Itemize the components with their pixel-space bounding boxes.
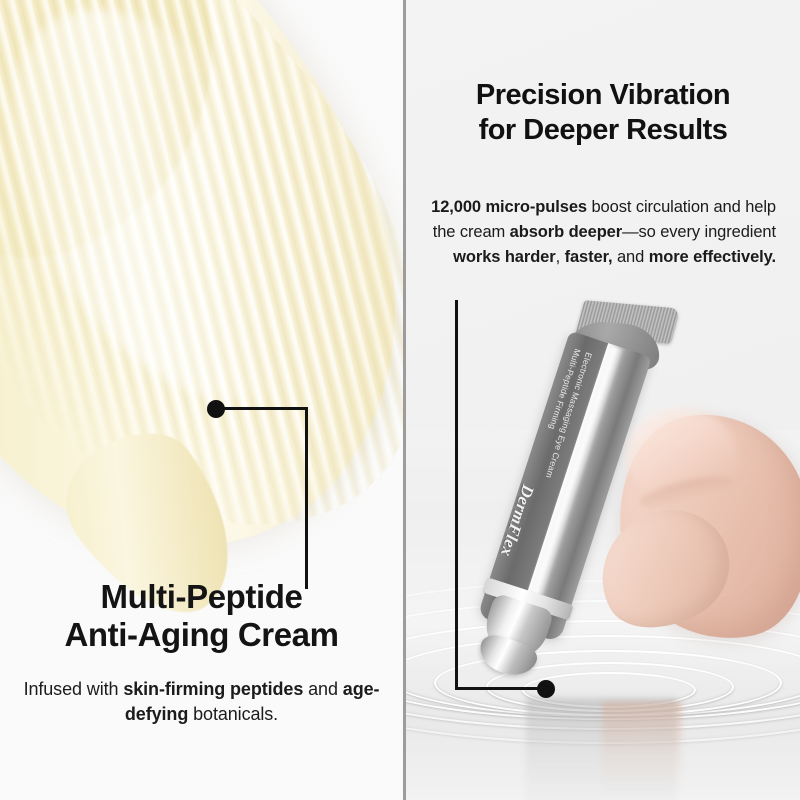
left-panel: Multi-Peptide Anti-Aging Cream Infused w…	[0, 0, 403, 800]
product-tube: Multi-Peptide Firming Electronic Massagi…	[506, 0, 800, 351]
left-subtitle: Infused with skin-firming peptides and a…	[18, 677, 385, 728]
hand-holding-product	[604, 395, 800, 685]
right-para-bold-4: faster,	[565, 248, 613, 266]
right-callout-dot	[537, 680, 555, 698]
hand-reflection	[602, 702, 682, 792]
left-sub-part-2: and	[303, 679, 343, 699]
right-para-bold-1: 12,000 micro-pulses	[431, 198, 587, 216]
right-title-line-1: Precision Vibration	[476, 79, 730, 111]
cream-swatch-image	[0, 0, 403, 630]
left-title-line-2: Anti-Aging Cream	[64, 616, 338, 653]
right-para-part-3: ,	[556, 248, 565, 266]
right-para-bold-2: absorb deeper	[510, 223, 622, 241]
right-para-bold-3: works harder	[453, 248, 555, 266]
right-callout-horizontal-line	[455, 687, 547, 690]
left-product-title: Multi-Peptide Anti-Aging Cream	[18, 578, 385, 655]
right-paragraph: 12,000 micro-pulses boost circulation an…	[406, 195, 800, 269]
left-callout-vertical-line	[305, 407, 308, 589]
right-callout-vertical-line	[455, 300, 458, 690]
right-headline: Precision Vibration for Deeper Results	[406, 78, 800, 148]
left-title-line-1: Multi-Peptide	[101, 578, 303, 615]
right-title-line-2: for Deeper Results	[479, 114, 728, 146]
left-sub-part-1: Infused with	[24, 679, 124, 699]
marketing-image-canvas: Multi-Peptide Anti-Aging Cream Infused w…	[0, 0, 800, 800]
left-sub-part-3: botanicals.	[188, 704, 278, 724]
left-callout-horizontal-line	[216, 407, 308, 410]
right-para-bold-5: more effectively.	[649, 248, 776, 266]
left-text-block: Multi-Peptide Anti-Aging Cream Infused w…	[0, 578, 403, 728]
left-sub-bold-1: skin-firming peptides	[123, 679, 303, 699]
right-para-part-2: —so every ingredient	[622, 223, 776, 241]
right-para-part-4: and	[612, 248, 648, 266]
